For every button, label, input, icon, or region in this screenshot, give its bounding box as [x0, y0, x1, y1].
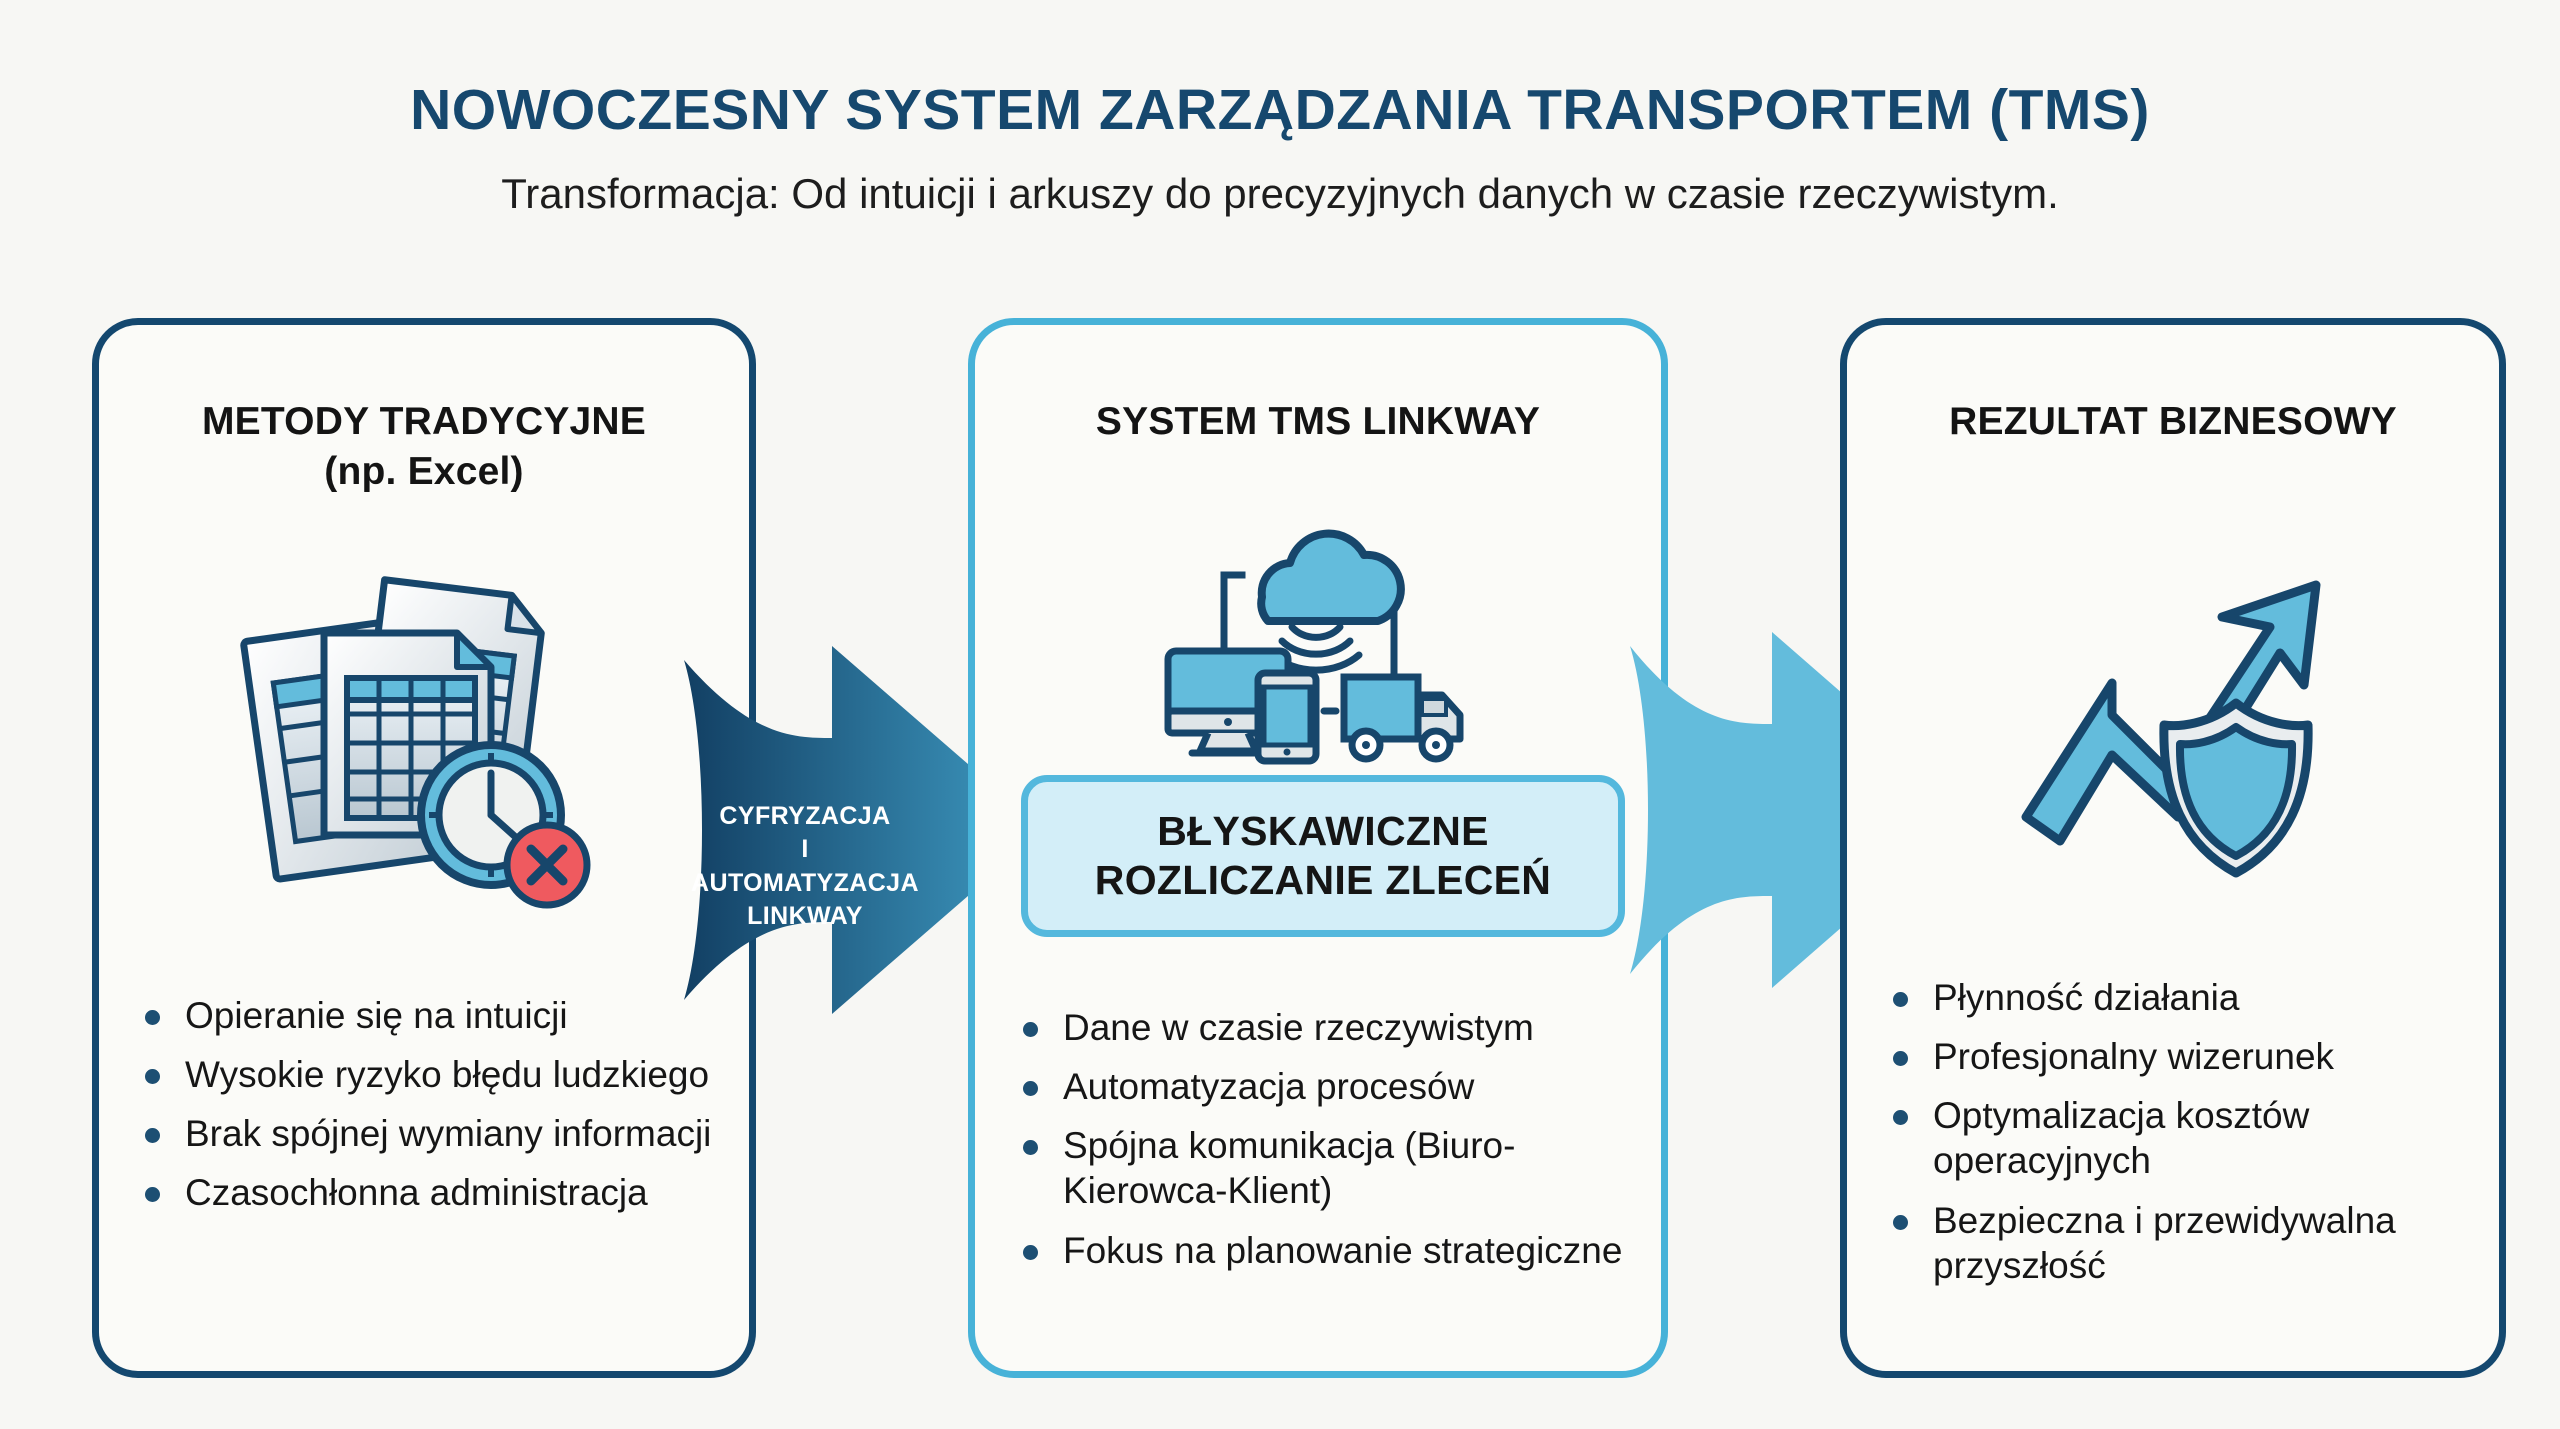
- panel-traditional-title-line2: (np. Excel): [324, 450, 523, 493]
- panel-business-result: REZULTAT BIZNESOWY Płynność działania Pr…: [1840, 318, 2506, 1378]
- bullets-traditional: Opieranie się na intuicji Wysokie ryzyko…: [137, 993, 731, 1230]
- list-item: Bezpieczna i przewidywalna przyszłość: [1885, 1198, 2485, 1288]
- list-item: Czasochłonna administracja: [137, 1170, 731, 1215]
- bullets-result: Płynność działania Profesjonalny wizerun…: [1885, 975, 2485, 1302]
- list-item: Automatyzacja procesów: [1015, 1064, 1647, 1109]
- bullets-tms: Dane w czasie rzeczywistym Automatyzacja…: [1015, 1005, 1647, 1287]
- spreadsheets-clock-error-icon: [229, 573, 619, 913]
- header: NOWOCZESNY SYSTEM ZARZĄDZANIA TRANSPORTE…: [0, 0, 2560, 215]
- growth-arrow-shield-icon: [2008, 565, 2338, 895]
- page-subtitle: Transformacja: Od intuicji i arkuszy do …: [0, 139, 2560, 215]
- list-item: Optymalizacja kosztów operacyjnych: [1885, 1093, 2485, 1183]
- list-item: Spójna komunikacja (Biuro-Kierowca-Klien…: [1015, 1123, 1647, 1213]
- highlight-line2: ROZLICZANIE ZLECEŃ: [1095, 857, 1551, 903]
- cloud-devices-truck-icon-area: [975, 505, 1661, 767]
- highlight-box-fast-settlement: BŁYSKAWICZNE ROZLICZANIE ZLECEŃ: [1021, 775, 1625, 937]
- page-title: NOWOCZESNY SYSTEM ZARZĄDZANIA TRANSPORTE…: [0, 0, 2560, 139]
- list-item: Fokus na planowanie strategiczne: [1015, 1228, 1647, 1273]
- list-item: Opieranie się na intuicji: [137, 993, 731, 1038]
- panel-tms-title: SYSTEM TMS LINKWAY: [975, 397, 1661, 447]
- list-item: Dane w czasie rzeczywistym: [1015, 1005, 1647, 1050]
- list-item: Wysokie ryzyko błędu ludzkiego: [137, 1052, 731, 1097]
- growth-arrow-shield-icon-area: [1847, 565, 2499, 895]
- highlight-box-text: BŁYSKAWICZNE ROZLICZANIE ZLECEŃ: [1095, 807, 1551, 905]
- panel-traditional-title-line1: METODY TRADYCYJNE: [202, 400, 646, 443]
- panel-result-title: REZULTAT BIZNESOWY: [1847, 397, 2499, 447]
- panel-tms-linkway: SYSTEM TMS LINKWAY: [968, 318, 1668, 1378]
- list-item: Profesjonalny wizerunek: [1885, 1034, 2485, 1079]
- highlight-line1: BŁYSKAWICZNE: [1157, 808, 1489, 854]
- panel-traditional-title: METODY TRADYCYJNE (np. Excel): [99, 397, 749, 497]
- list-item: Płynność działania: [1885, 975, 2485, 1020]
- cloud-devices-truck-icon: [1146, 505, 1490, 767]
- list-item: Brak spójnej wymiany informacji: [137, 1111, 731, 1156]
